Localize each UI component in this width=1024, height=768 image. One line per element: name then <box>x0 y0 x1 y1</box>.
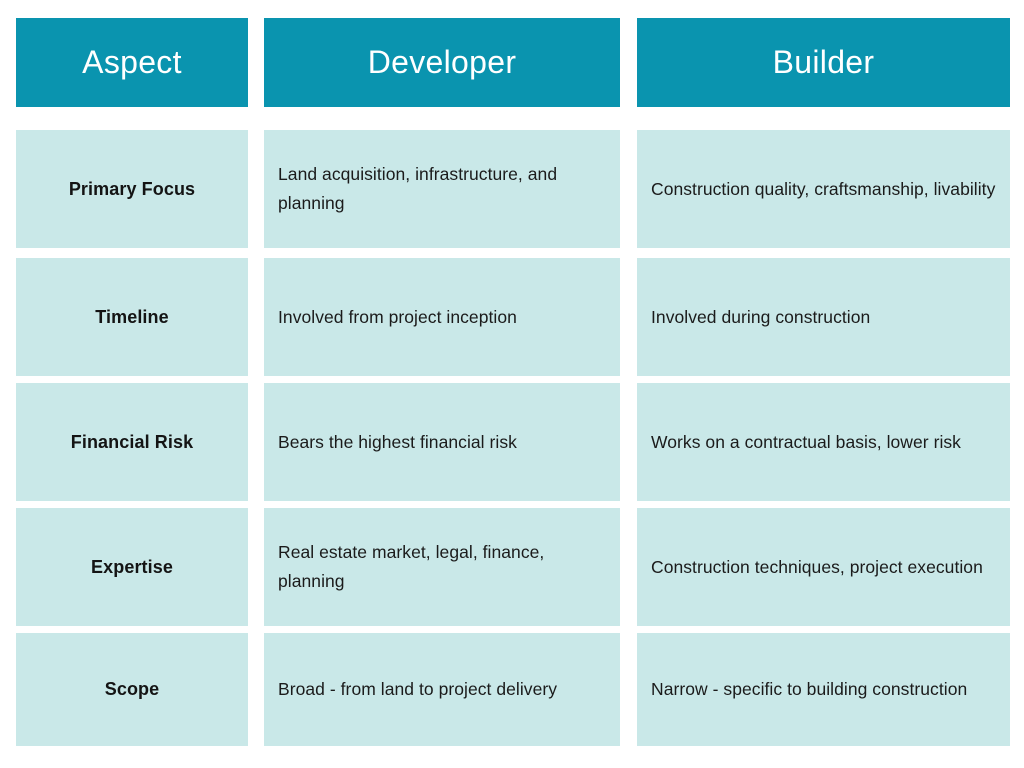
row-developer-cell: Real estate market, legal, finance, plan… <box>264 508 620 626</box>
row-developer-text: Involved from project inception <box>278 303 517 332</box>
header-cell-aspect: Aspect <box>16 18 248 107</box>
row-aspect-label: Financial Risk <box>71 430 193 454</box>
header-label-developer: Developer <box>368 45 517 80</box>
table-row: Expertise Real estate market, legal, fin… <box>0 508 1024 626</box>
row-builder-text: Narrow - specific to building constructi… <box>651 675 967 704</box>
row-aspect-label: Expertise <box>91 555 173 579</box>
header-cell-developer: Developer <box>264 18 620 107</box>
row-builder-text: Works on a contractual basis, lower risk <box>651 428 961 457</box>
row-aspect-cell: Expertise <box>16 508 248 626</box>
table-row: Timeline Involved from project inception… <box>0 258 1024 376</box>
row-builder-text: Construction techniques, project executi… <box>651 553 983 582</box>
row-aspect-label: Timeline <box>95 305 169 329</box>
row-developer-text: Real estate market, legal, finance, plan… <box>278 538 608 596</box>
row-developer-text: Land acquisition, infrastructure, and pl… <box>278 160 608 218</box>
row-developer-text: Broad - from land to project delivery <box>278 675 557 704</box>
table-row: Primary Focus Land acquisition, infrastr… <box>0 130 1024 248</box>
row-builder-cell: Works on a contractual basis, lower risk <box>637 383 1010 501</box>
row-builder-cell: Narrow - specific to building constructi… <box>637 633 1010 746</box>
row-developer-cell: Involved from project inception <box>264 258 620 376</box>
table-header-row: Aspect Developer Builder <box>0 18 1024 107</box>
row-aspect-cell: Scope <box>16 633 248 746</box>
table-row: Scope Broad - from land to project deliv… <box>0 633 1024 746</box>
row-developer-cell: Land acquisition, infrastructure, and pl… <box>264 130 620 248</box>
header-label-aspect: Aspect <box>82 45 182 80</box>
header-cell-builder: Builder <box>637 18 1010 107</box>
comparison-table: Aspect Developer Builder Primary Focus L… <box>0 0 1024 768</box>
table-row: Financial Risk Bears the highest financi… <box>0 383 1024 501</box>
row-builder-text: Involved during construction <box>651 303 870 332</box>
row-builder-cell: Construction techniques, project executi… <box>637 508 1010 626</box>
row-builder-cell: Involved during construction <box>637 258 1010 376</box>
row-aspect-label: Scope <box>105 677 160 701</box>
row-developer-cell: Bears the highest financial risk <box>264 383 620 501</box>
row-aspect-cell: Financial Risk <box>16 383 248 501</box>
row-aspect-cell: Primary Focus <box>16 130 248 248</box>
row-developer-text: Bears the highest financial risk <box>278 428 517 457</box>
row-builder-cell: Construction quality, craftsmanship, liv… <box>637 130 1010 248</box>
row-aspect-label: Primary Focus <box>69 177 195 201</box>
row-developer-cell: Broad - from land to project delivery <box>264 633 620 746</box>
header-label-builder: Builder <box>773 45 875 80</box>
row-aspect-cell: Timeline <box>16 258 248 376</box>
row-builder-text: Construction quality, craftsmanship, liv… <box>651 175 995 204</box>
